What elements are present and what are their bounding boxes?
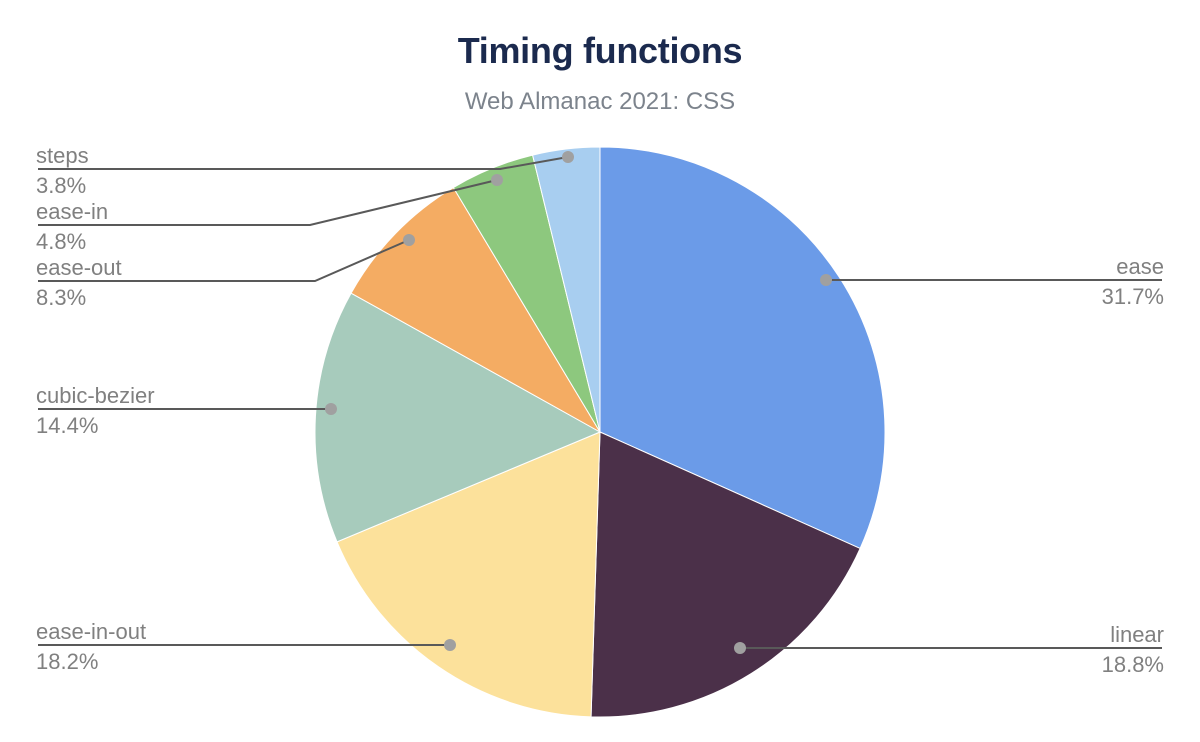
- leader-dot-ease-in: [491, 174, 503, 186]
- leader-dot-ease: [820, 274, 832, 286]
- slice-label-linear: linear 18.8%: [1102, 620, 1164, 680]
- slice-label-ease-in-out-name: ease-in-out: [36, 617, 146, 647]
- pie-slices-group: [315, 147, 885, 717]
- slice-label-cubic-bezier: cubic-bezier 14.4%: [36, 381, 155, 441]
- slice-label-linear-value: 18.8%: [1102, 650, 1164, 680]
- slice-label-ease-in: ease-in 4.8%: [36, 197, 108, 257]
- slice-label-ease-in-out-value: 18.2%: [36, 647, 146, 677]
- slice-label-linear-name: linear: [1102, 620, 1164, 650]
- leader-dot-cubic-bezier: [325, 403, 337, 415]
- pie-chart-figure: Timing functions Web Almanac 2021: CSS s…: [0, 0, 1200, 742]
- slice-label-ease-out: ease-out 8.3%: [36, 253, 122, 313]
- leader-dot-linear: [734, 642, 746, 654]
- leader-dot-ease-out: [403, 234, 415, 246]
- slice-label-cubic-bezier-value: 14.4%: [36, 411, 155, 441]
- pie-svg: [0, 0, 1200, 742]
- slice-label-ease-out-value: 8.3%: [36, 283, 122, 313]
- slice-label-steps-name: steps: [36, 141, 89, 171]
- slice-label-ease-out-name: ease-out: [36, 253, 122, 283]
- slice-label-steps: steps 3.8%: [36, 141, 89, 201]
- slice-label-ease-value: 31.7%: [1102, 282, 1164, 312]
- slice-label-ease-name: ease: [1102, 252, 1164, 282]
- leader-dot-ease-in-out: [444, 639, 456, 651]
- leader-line-steps: [38, 157, 568, 169]
- slice-label-cubic-bezier-name: cubic-bezier: [36, 381, 155, 411]
- slice-label-ease: ease 31.7%: [1102, 252, 1164, 312]
- slice-label-ease-in-out: ease-in-out 18.2%: [36, 617, 146, 677]
- leader-dot-steps: [562, 151, 574, 163]
- slice-label-ease-in-name: ease-in: [36, 197, 108, 227]
